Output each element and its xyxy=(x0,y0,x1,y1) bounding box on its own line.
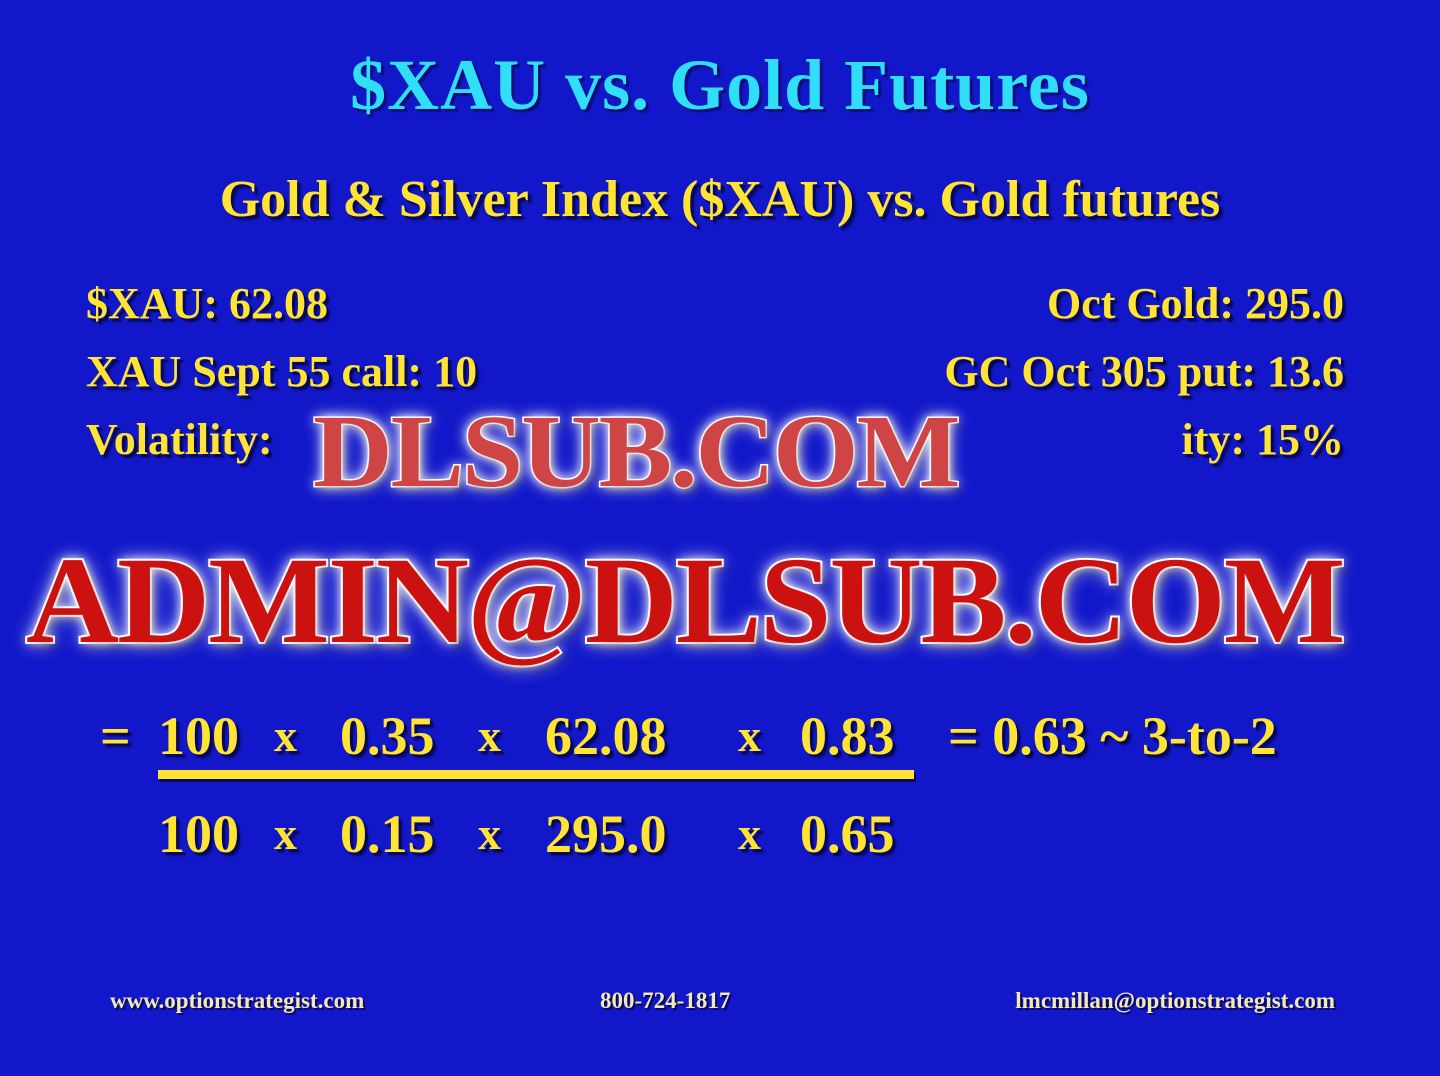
numerator-term-d: 0.83 xyxy=(800,705,895,767)
numerator-op-3: x xyxy=(738,709,761,762)
numerator-term-b: 0.35 xyxy=(340,705,435,767)
formula-lead-equals: = xyxy=(100,705,131,767)
quote-right-oct-gold: Oct Gold: 295.0 xyxy=(1047,278,1344,329)
numerator-op-2: x xyxy=(478,709,501,762)
numerator-term-a: 100 xyxy=(158,705,239,767)
fraction-bar xyxy=(158,770,914,779)
footer-phone: 800-724-1817 xyxy=(600,988,730,1014)
numerator-op-1: x xyxy=(274,709,297,762)
denominator-op-2: x xyxy=(478,807,501,860)
quote-left-xau: $XAU: 62.08 xyxy=(86,278,328,329)
quote-right-volatility: ity: 15% xyxy=(1181,414,1344,465)
denominator-term-c: 295.0 xyxy=(545,803,667,865)
slide-subtitle: Gold & Silver Index ($XAU) vs. Gold futu… xyxy=(0,170,1440,229)
quote-row: $XAU: 62.08 Oct Gold: 295.0 xyxy=(0,278,1440,340)
denominator-op-1: x xyxy=(274,807,297,860)
denominator-term-a: 100 xyxy=(158,803,239,865)
slide-footer: www.optionstrategist.com 800-724-1817 lm… xyxy=(0,988,1440,1028)
denominator-op-3: x xyxy=(738,807,761,860)
presentation-slide: $XAU vs. Gold Futures Gold & Silver Inde… xyxy=(0,0,1440,1076)
quote-right-gc-put: GC Oct 305 put: 13.6 xyxy=(944,346,1344,397)
formula-result: = 0.63 ~ 3-to-2 xyxy=(948,705,1277,767)
denominator-term-b: 0.15 xyxy=(340,803,435,865)
numerator-term-c: 62.08 xyxy=(545,705,667,767)
slide-title: $XAU vs. Gold Futures xyxy=(0,44,1440,127)
quote-left-xau-call: XAU Sept 55 call: 10 xyxy=(86,346,477,397)
footer-website: www.optionstrategist.com xyxy=(110,988,364,1014)
quote-left-volatility: Volatility: xyxy=(86,414,273,465)
formula-denominator-row: 100 x 0.15 x 295.0 x 0.65 xyxy=(0,803,1440,879)
watermark-admin-email: ADMIN@DLSUB.COM xyxy=(26,530,1343,672)
watermark-dlsub: DLSUB.COM xyxy=(313,392,958,511)
denominator-term-d: 0.65 xyxy=(800,803,895,865)
footer-email: lmcmillan@optionstrategist.com xyxy=(1015,988,1335,1014)
